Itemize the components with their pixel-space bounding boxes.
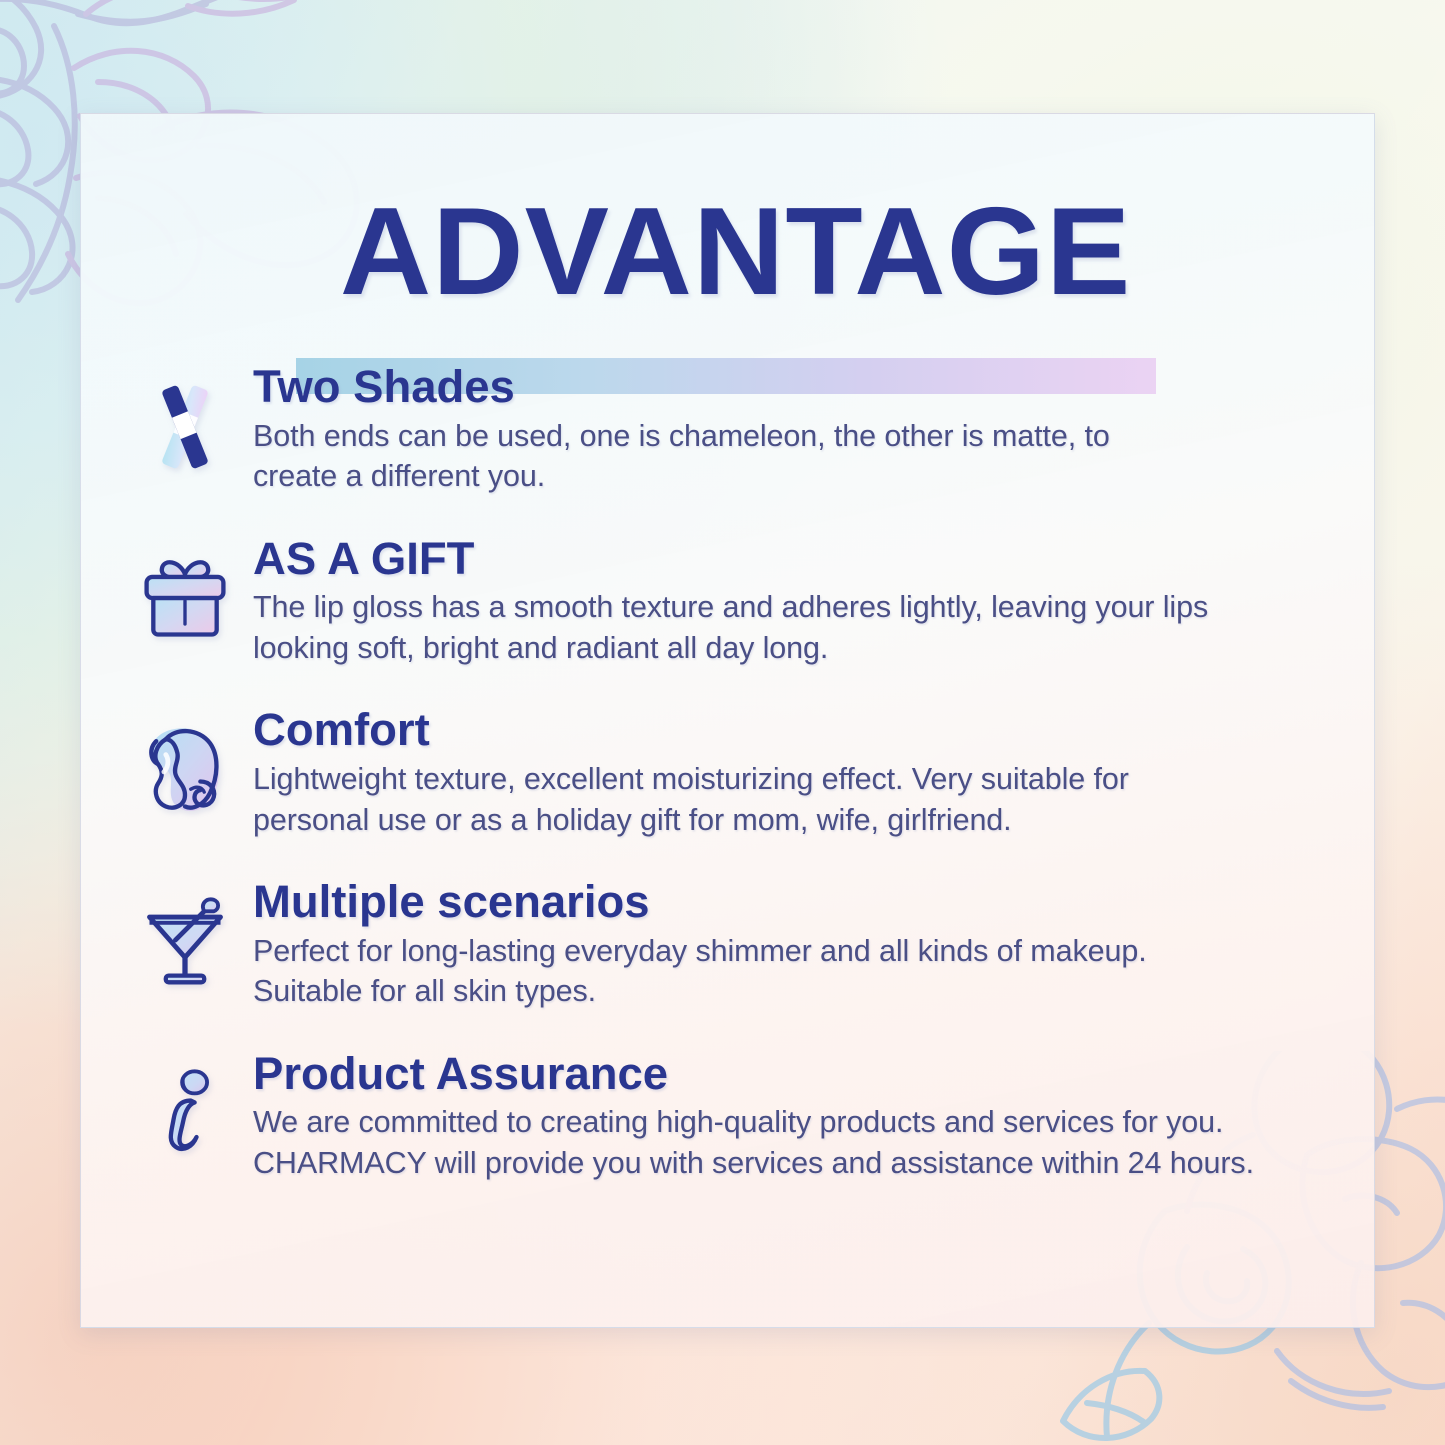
feature-text-as-a-gift: AS A GIFT The lip gloss has a smooth tex… [241, 533, 1318, 669]
feature-description: The lip gloss has a smooth texture and a… [253, 587, 1318, 668]
feature-item-two-shades: Two Shades Both ends can be used, one is… [81, 361, 1374, 497]
info-i-icon [129, 1058, 241, 1170]
feature-item-product-assurance: Product Assurance We are committed to cr… [81, 1048, 1374, 1184]
feature-description: Perfect for long-lasting everyday shimme… [253, 931, 1318, 1012]
feature-title: Two Shades [253, 363, 1329, 412]
feature-text-product-assurance: Product Assurance We are committed to cr… [241, 1048, 1318, 1184]
feature-description-line: create a different you. [253, 456, 1318, 497]
feature-description-line: Both ends can be used, one is chameleon,… [253, 416, 1318, 457]
feature-description-line: Perfect for long-lasting everyday shimme… [253, 931, 1318, 972]
feature-text-two-shades: Two Shades Both ends can be used, one is… [241, 361, 1318, 497]
advantage-card: ADVANTAGE [80, 113, 1375, 1328]
feature-description-line: We are committed to creating high-qualit… [253, 1102, 1318, 1143]
cocktail-glass-icon [129, 886, 241, 998]
feature-item-comfort: Comfort Lightweight texture, excellent m… [81, 704, 1374, 840]
feature-title: AS A GIFT [253, 535, 1329, 584]
feature-description-line: Lightweight texture, excellent moisturiz… [253, 759, 1318, 800]
feature-description: We are committed to creating high-qualit… [253, 1102, 1318, 1183]
page-title-block: ADVANTAGE [81, 190, 1374, 340]
feature-description-line: looking soft, bright and radiant all day… [253, 628, 1318, 669]
feature-description-line: The lip gloss has a smooth texture and a… [253, 587, 1318, 628]
feature-description: Both ends can be used, one is chameleon,… [253, 416, 1318, 497]
feature-title: Product Assurance [253, 1050, 1329, 1099]
feature-text-comfort: Comfort Lightweight texture, excellent m… [241, 704, 1318, 840]
feature-list: Two Shades Both ends can be used, one is… [81, 361, 1374, 1220]
feature-item-as-a-gift: AS A GIFT The lip gloss has a smooth tex… [81, 533, 1374, 669]
feature-title: Comfort [253, 706, 1329, 755]
gift-box-icon [129, 543, 241, 655]
feature-item-multiple-scenarios: Multiple scenarios Perfect for long-last… [81, 876, 1374, 1012]
feature-description-line: personal use or as a holiday gift for mo… [253, 800, 1318, 841]
feature-title: Multiple scenarios [253, 878, 1329, 927]
infographic-canvas: ADVANTAGE [0, 0, 1445, 1445]
feature-description-line: Suitable for all skin types. [253, 971, 1318, 1012]
woman-face-profile-icon [129, 714, 241, 826]
feature-description-line: CHARMACY will provide you with services … [253, 1143, 1318, 1184]
crossed-lipstick-sticks-icon [129, 371, 241, 483]
page-title: ADVANTAGE [68, 190, 1387, 314]
feature-text-multiple-scenarios: Multiple scenarios Perfect for long-last… [241, 876, 1318, 1012]
feature-description: Lightweight texture, excellent moisturiz… [253, 759, 1318, 840]
